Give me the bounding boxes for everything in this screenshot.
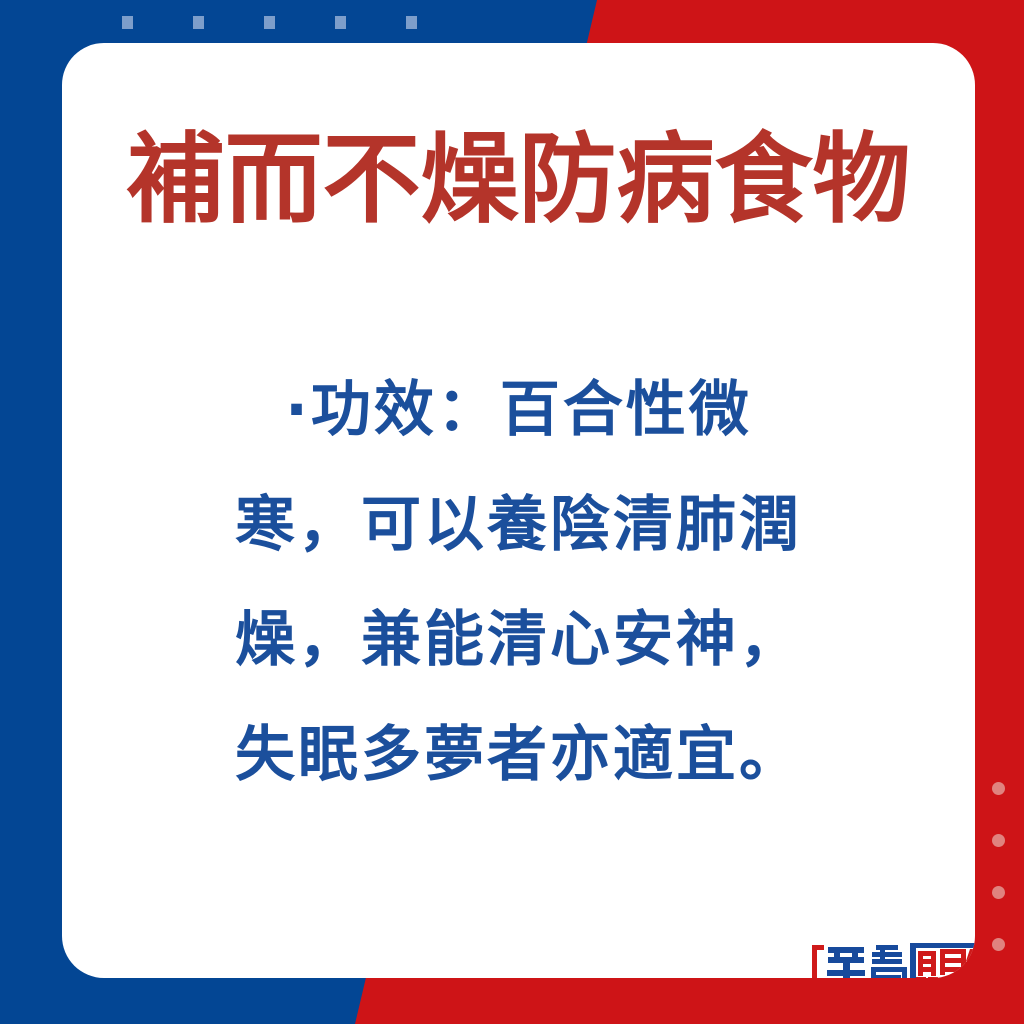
- top-dot-row: [122, 16, 417, 29]
- square-dot-icon: [335, 16, 346, 29]
- body-line: 燥，兼能清心安神，: [172, 583, 865, 698]
- logo-mark-icon: [810, 941, 975, 978]
- right-dot-column: [992, 782, 1005, 951]
- sing-tao-headline-logo: [810, 941, 975, 978]
- body-line: ·功效：百合性微: [172, 353, 865, 468]
- body-line: 失眠多夢者亦適宜。: [172, 698, 865, 813]
- body-copy: ·功效：百合性微 寒，可以養陰清肺潤 燥，兼能清心安神， 失眠多夢者亦適宜。: [172, 353, 865, 813]
- round-dot-icon: [992, 886, 1005, 899]
- page-title: 補而不燥防病食物: [62, 128, 975, 234]
- square-dot-icon: [193, 16, 204, 29]
- round-dot-icon: [992, 938, 1005, 951]
- poster-canvas: 補而不燥防病食物 ·功效：百合性微 寒，可以養陰清肺潤 燥，兼能清心安神， 失眠…: [0, 0, 1024, 1024]
- square-dot-icon: [406, 16, 417, 29]
- content-card: 補而不燥防病食物 ·功效：百合性微 寒，可以養陰清肺潤 燥，兼能清心安神， 失眠…: [62, 43, 975, 978]
- square-dot-icon: [122, 16, 133, 29]
- round-dot-icon: [992, 834, 1005, 847]
- body-line: 寒，可以養陰清肺潤: [172, 468, 865, 583]
- square-dot-icon: [264, 16, 275, 29]
- round-dot-icon: [992, 782, 1005, 795]
